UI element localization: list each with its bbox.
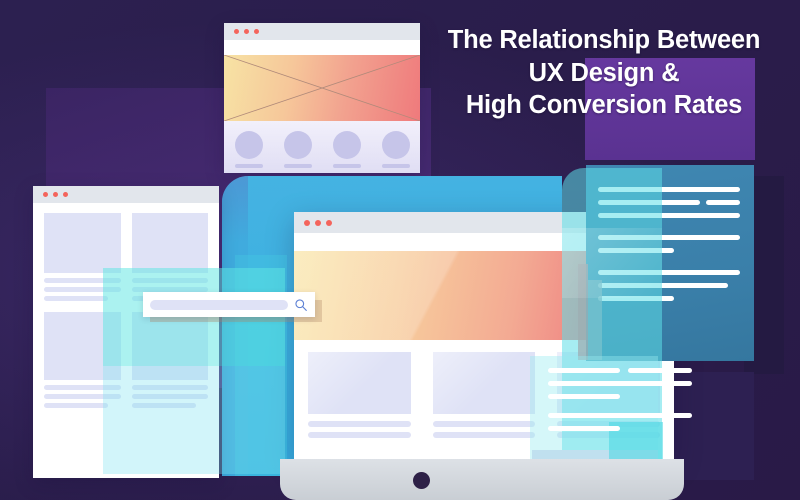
feature-item[interactable] — [284, 131, 312, 168]
feature-circle-icon — [333, 131, 361, 159]
window-control-dots[interactable] — [294, 220, 332, 226]
feature-caption-bar — [382, 164, 410, 168]
close-dot-icon[interactable] — [43, 192, 48, 197]
card-text-lines — [433, 421, 536, 438]
page-title-line-3: High Conversion Rates — [428, 89, 780, 122]
window-titlebar — [33, 186, 219, 203]
text-line — [433, 421, 536, 427]
text-line — [548, 381, 692, 386]
text-line — [308, 421, 411, 427]
window-control-dots[interactable] — [33, 192, 68, 197]
card-thumbnail — [44, 213, 121, 273]
maximize-dot-icon[interactable] — [63, 192, 68, 197]
text-line — [548, 394, 620, 399]
image-placeholder-cross-icon — [224, 55, 420, 121]
search-icon[interactable] — [294, 298, 308, 312]
window-navbar — [224, 40, 420, 55]
feature-caption-bar — [284, 164, 312, 168]
card-text-lines — [308, 421, 411, 438]
feature-circle-row — [224, 121, 420, 173]
page-title: The Relationship Between UX Design & Hig… — [428, 24, 780, 122]
glass-right-shine — [562, 228, 662, 298]
text-line — [548, 368, 620, 373]
window-titlebar — [224, 23, 420, 40]
page-title-line-1: The Relationship Between — [428, 24, 780, 57]
text-line — [628, 368, 692, 373]
maximize-dot-icon[interactable] — [254, 29, 259, 34]
maximize-dot-icon[interactable] — [326, 220, 332, 226]
minimize-dot-icon[interactable] — [53, 192, 58, 197]
search-input[interactable] — [150, 300, 288, 310]
feature-item[interactable] — [333, 131, 361, 168]
window-control-dots[interactable] — [224, 29, 259, 34]
monitor-bezel — [280, 459, 684, 500]
minimize-dot-icon[interactable] — [315, 220, 321, 226]
text-line — [433, 432, 536, 438]
feature-item[interactable] — [382, 131, 410, 168]
text-line — [706, 200, 740, 205]
minimize-dot-icon[interactable] — [244, 29, 249, 34]
feature-circle-icon — [284, 131, 312, 159]
text-line — [548, 413, 692, 418]
feature-item[interactable] — [235, 131, 263, 168]
feature-circle-icon — [382, 131, 410, 159]
lower-text-panel — [540, 362, 700, 454]
infographic-canvas: The Relationship Between UX Design & Hig… — [0, 0, 800, 500]
monitor-camera-dot — [413, 472, 430, 489]
text-line — [548, 426, 620, 431]
feature-caption-bar — [333, 164, 361, 168]
close-dot-icon[interactable] — [304, 220, 310, 226]
list-item[interactable] — [433, 352, 536, 438]
card-thumbnail — [132, 213, 209, 273]
feature-caption-bar — [235, 164, 263, 168]
hero-image-placeholder — [224, 55, 420, 121]
glass-panel-left-low — [103, 366, 285, 474]
card-thumbnail — [308, 352, 411, 414]
text-line — [44, 296, 108, 301]
text-line — [308, 432, 411, 438]
feature-circle-icon — [235, 131, 263, 159]
card-thumbnail — [433, 352, 536, 414]
close-dot-icon[interactable] — [234, 29, 239, 34]
text-line — [44, 403, 108, 408]
top-browser-window[interactable] — [224, 23, 420, 173]
page-title-line-2: UX Design & — [428, 57, 780, 90]
list-item[interactable] — [308, 352, 411, 438]
search-bar[interactable] — [143, 292, 315, 317]
